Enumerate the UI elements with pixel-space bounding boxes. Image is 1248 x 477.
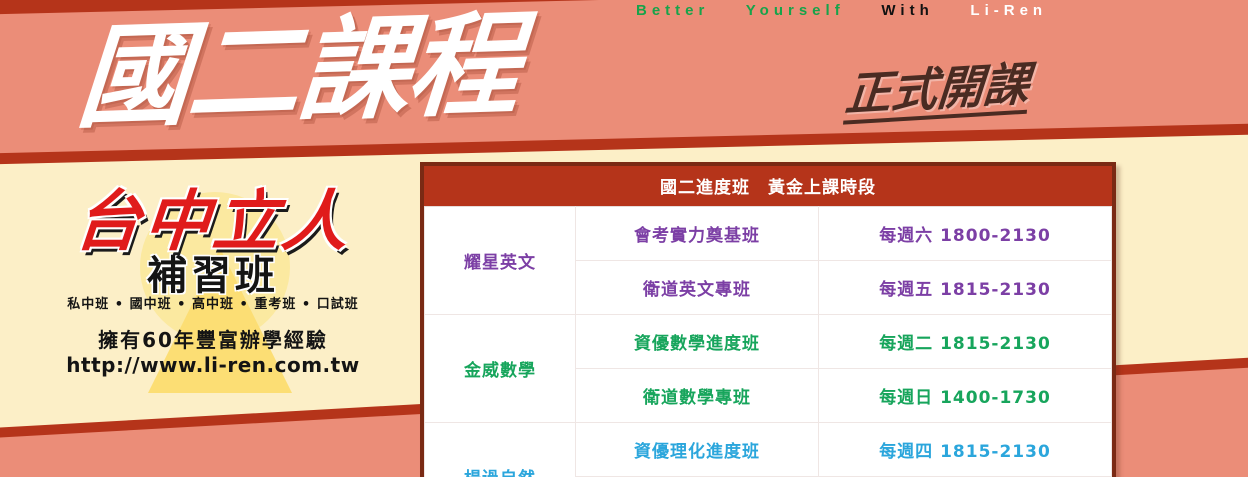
schedule-table-header: 國二進度班 黃金上課時段 xyxy=(424,166,1112,206)
course-time-cell: 每週二 1815-2130 xyxy=(819,315,1112,369)
logo-class-list: 私中班 • 國中班 • 高中班 • 重考班 • 口試班 xyxy=(18,298,408,312)
logo-brand-name: 台中立人 xyxy=(15,188,411,254)
promo-banner: Better Yourself With Li-Ren 國二課程 正式開課 台中… xyxy=(0,0,1248,477)
page-subtitle: 正式開課 xyxy=(843,60,1031,124)
logo: 台中立人 補習班 私中班 • 國中班 • 高中班 • 重考班 • 口試班 擁有6… xyxy=(18,188,408,378)
logo-experience: 擁有60年豐富辦學經驗 xyxy=(18,328,408,353)
course-name-cell: 衛道英文專班 xyxy=(576,261,819,315)
logo-website-url[interactable]: http://www.li-ren.com.tw xyxy=(18,353,408,378)
tagline-word-better: Better xyxy=(636,2,709,19)
logo-brand-type: 補習班 xyxy=(18,256,408,296)
course-time-cell: 每週日 1400-1730 xyxy=(819,369,1112,423)
course-time-cell: 每週六 1800-2130 xyxy=(819,207,1112,261)
tagline-word-yourself: Yourself xyxy=(746,2,845,19)
page-title: 國二課程 xyxy=(74,9,522,135)
tagline: Better Yourself With Li-Ren xyxy=(636,2,1047,19)
tagline-word-liren: Li-Ren xyxy=(970,2,1047,19)
table-row: 耀星英文會考實力奠基班每週六 1800-2130 xyxy=(425,207,1112,261)
course-time-cell: 每週四 1815-2130 xyxy=(819,423,1112,477)
course-name-cell: 衛道數學專班 xyxy=(576,369,819,423)
subject-cell: 楊過自然 xyxy=(425,423,576,477)
tagline-word-with: With xyxy=(881,2,933,19)
course-time-cell: 每週五 1815-2130 xyxy=(819,261,1112,315)
schedule-table: 耀星英文會考實力奠基班每週六 1800-2130衛道英文專班每週五 1815-2… xyxy=(424,206,1112,477)
table-row: 金威數學資優數學進度班每週二 1815-2130 xyxy=(425,315,1112,369)
course-name-cell: 會考實力奠基班 xyxy=(576,207,819,261)
course-name-cell: 資優數學進度班 xyxy=(576,315,819,369)
course-name-cell: 資優理化進度班 xyxy=(576,423,819,477)
subject-cell: 耀星英文 xyxy=(425,207,576,315)
table-row: 楊過自然資優理化進度班每週四 1815-2130 xyxy=(425,423,1112,477)
schedule-table-container: 國二進度班 黃金上課時段 耀星英文會考實力奠基班每週六 1800-2130衛道英… xyxy=(420,162,1116,477)
subject-cell: 金威數學 xyxy=(425,315,576,423)
